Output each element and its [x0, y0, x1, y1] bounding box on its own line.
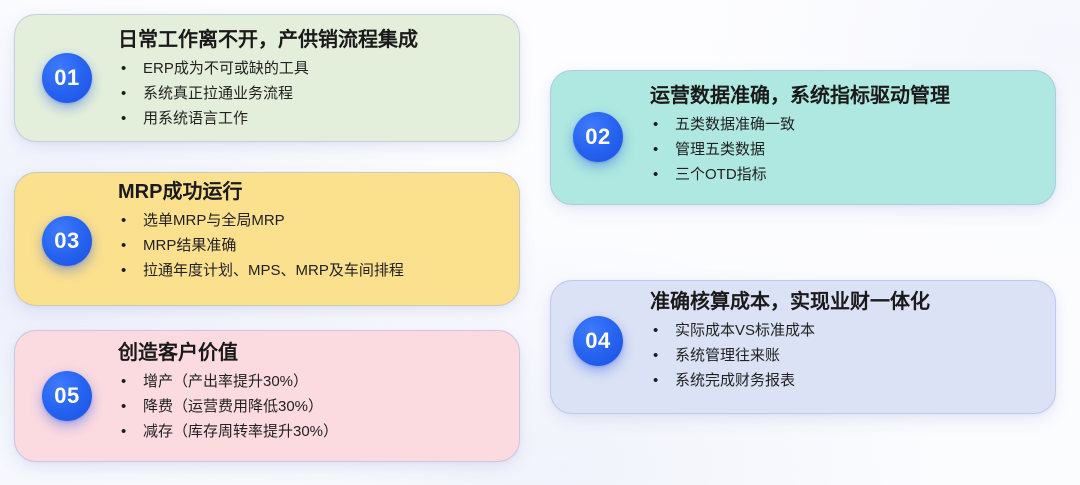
list-item-label: 减存（库存周转率提升30%） [143, 423, 338, 440]
bullet-dot-icon: • [121, 56, 126, 81]
bullet-dot-icon: • [121, 208, 126, 233]
list-item: •系统完成财务报表 [650, 368, 930, 393]
list-item: •选单MRP与全局MRP [118, 208, 404, 233]
bullet-dot-icon: • [121, 81, 126, 106]
card-bullet-list: •增产（产出率提升30%） •降费（运营费用降低30%） •减存（库存周转率提升… [118, 369, 338, 444]
list-item: •减存（库存周转率提升30%） [118, 419, 338, 444]
info-card-04-content: 准确核算成本，实现业财一体化 •实际成本VS标准成本 •系统管理往来账 •系统完… [650, 290, 930, 393]
step-badge-03[interactable]: 03 [42, 216, 92, 266]
list-item-label: 三个OTD指标 [675, 166, 767, 183]
bullet-dot-icon: • [121, 106, 126, 131]
card-bullet-list: •实际成本VS标准成本 •系统管理往来账 •系统完成财务报表 [650, 318, 930, 393]
list-item: •ERP成为不可或缺的工具 [118, 56, 418, 81]
list-item-label: MRP结果准确 [143, 237, 236, 254]
card-bullet-list: •ERP成为不可或缺的工具 •系统真正拉通业务流程 •用系统语言工作 [118, 56, 418, 131]
list-item: •管理五类数据 [650, 137, 950, 162]
info-card-01-content: 日常工作离不开，产供销流程集成 •ERP成为不可或缺的工具 •系统真正拉通业务流… [118, 28, 418, 131]
list-item: •三个OTD指标 [650, 162, 950, 187]
bullet-dot-icon: • [653, 343, 658, 368]
step-badge-04[interactable]: 04 [573, 316, 623, 366]
list-item: •五类数据准确一致 [650, 112, 950, 137]
bullet-dot-icon: • [653, 318, 658, 343]
list-item: •增产（产出率提升30%） [118, 369, 338, 394]
bullet-dot-icon: • [121, 369, 126, 394]
card-title: 准确核算成本，实现业财一体化 [650, 290, 930, 315]
card-bullet-list: •选单MRP与全局MRP •MRP结果准确 •拉通年度计划、MPS、MRP及车间… [118, 208, 404, 283]
list-item: •用系统语言工作 [118, 106, 418, 131]
bullet-dot-icon: • [653, 162, 658, 187]
card-title: 创造客户价值 [118, 341, 338, 366]
bullet-dot-icon: • [121, 419, 126, 444]
list-item-label: 管理五类数据 [675, 141, 765, 158]
step-badge-number: 02 [585, 126, 610, 148]
step-badge-number: 04 [585, 330, 610, 352]
list-item-label: 选单MRP与全局MRP [143, 212, 285, 229]
list-item-label: 五类数据准确一致 [675, 116, 795, 133]
list-item-label: 用系统语言工作 [143, 110, 248, 127]
bullet-dot-icon: • [653, 137, 658, 162]
info-card-02-content: 运营数据准确，系统指标驱动管理 •五类数据准确一致 •管理五类数据 •三个OTD… [650, 84, 950, 187]
list-item: •系统管理往来账 [650, 343, 930, 368]
bullet-dot-icon: • [653, 368, 658, 393]
bullet-dot-icon: • [121, 258, 126, 283]
list-item: •降费（运营费用降低30%） [118, 394, 338, 419]
step-badge-02[interactable]: 02 [573, 112, 623, 162]
info-card-05-content: 创造客户价值 •增产（产出率提升30%） •降费（运营费用降低30%） •减存（… [118, 341, 338, 444]
card-bullet-list: •五类数据准确一致 •管理五类数据 •三个OTD指标 [650, 112, 950, 187]
list-item-label: 系统完成财务报表 [675, 372, 795, 389]
list-item: •实际成本VS标准成本 [650, 318, 930, 343]
list-item-label: 降费（运营费用降低30%） [143, 398, 323, 415]
infographic-canvas: 01 日常工作离不开，产供销流程集成 •ERP成为不可或缺的工具 •系统真正拉通… [0, 0, 1080, 485]
card-title: 运营数据准确，系统指标驱动管理 [650, 84, 950, 109]
list-item: •拉通年度计划、MPS、MRP及车间排程 [118, 258, 404, 283]
list-item-label: ERP成为不可或缺的工具 [143, 60, 309, 77]
step-badge-number: 01 [54, 67, 79, 89]
card-title: 日常工作离不开，产供销流程集成 [118, 28, 418, 53]
list-item-label: 增产（产出率提升30%） [143, 373, 308, 390]
bullet-dot-icon: • [653, 112, 658, 137]
card-title: MRP成功运行 [118, 180, 404, 205]
step-badge-01[interactable]: 01 [42, 53, 92, 103]
step-badge-number: 03 [54, 230, 79, 252]
list-item-label: 系统真正拉通业务流程 [143, 85, 293, 102]
list-item: •MRP结果准确 [118, 233, 404, 258]
list-item: •系统真正拉通业务流程 [118, 81, 418, 106]
list-item-label: 实际成本VS标准成本 [675, 322, 815, 339]
bullet-dot-icon: • [121, 394, 126, 419]
list-item-label: 拉通年度计划、MPS、MRP及车间排程 [143, 262, 404, 279]
step-badge-number: 05 [54, 385, 79, 407]
info-card-03-content: MRP成功运行 •选单MRP与全局MRP •MRP结果准确 •拉通年度计划、MP… [118, 180, 404, 283]
step-badge-05[interactable]: 05 [42, 371, 92, 421]
list-item-label: 系统管理往来账 [675, 347, 780, 364]
bullet-dot-icon: • [121, 233, 126, 258]
